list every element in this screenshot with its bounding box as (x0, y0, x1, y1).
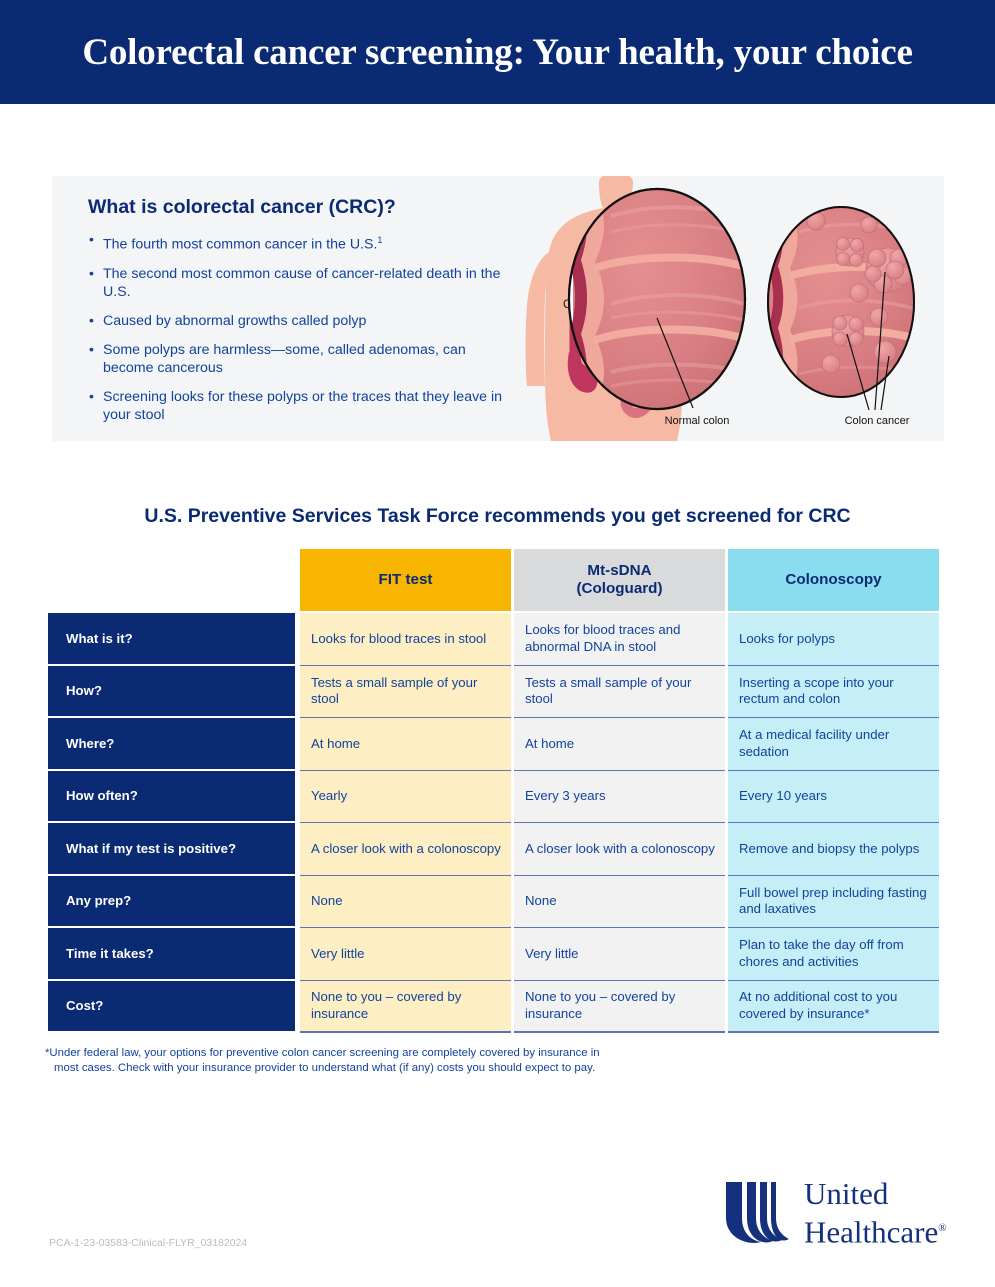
row-label: Time it takes? (48, 928, 295, 981)
cell-mtsdna: Every 3 years (514, 771, 725, 824)
footnote-line-2: most cases. Check with your insurance pr… (45, 1061, 745, 1076)
table-row: Where? At home At home At a medical faci… (48, 718, 948, 771)
row-label: What if my test is positive? (48, 823, 295, 876)
footnote-marker: 1 (377, 235, 382, 245)
bullet-text: The fourth most common cancer in the U.S… (103, 237, 377, 253)
table-header-row: FIT test Mt-sDNA (Cologuard) Colonoscopy (48, 549, 948, 611)
header-corner-spacer (48, 549, 295, 611)
cell-fit: A closer look with a colonoscopy (300, 823, 511, 876)
page-title: Colorectal cancer screening: Your health… (82, 31, 912, 74)
row-label: Any prep? (48, 876, 295, 929)
list-item: The second most common cause of cancer-r… (88, 265, 518, 301)
column-header-mtsdna: Mt-sDNA (Cologuard) (514, 549, 725, 611)
cell-colonoscopy: At a medical facility under sedation (728, 718, 939, 771)
logo-line-2: Healthcare (804, 1214, 938, 1249)
info-box-content: What is colorectal cancer (CRC)? The fou… (88, 196, 518, 435)
cell-fit: Tests a small sample of your stool (300, 666, 511, 719)
colon-cancer-label: Colon cancer (845, 415, 910, 427)
table-row: How? Tests a small sample of your stool … (48, 666, 948, 719)
normal-colon-label: Normal colon (665, 415, 730, 427)
cell-mtsdna: A closer look with a colonoscopy (514, 823, 725, 876)
list-item: Screening looks for these polyps or the … (88, 388, 518, 424)
column-header-colonoscopy: Colonoscopy (728, 549, 939, 611)
table-row: What is it? Looks for blood traces in st… (48, 613, 948, 666)
cell-fit: Yearly (300, 771, 511, 824)
table-row: Cost? None to you – covered by insurance… (48, 981, 948, 1034)
info-box: What is colorectal cancer (CRC)? The fou… (52, 176, 944, 441)
cell-mtsdna: Tests a small sample of your stool (514, 666, 725, 719)
cell-mtsdna: None to you – covered by insurance (514, 981, 725, 1034)
cell-fit: Very little (300, 928, 511, 981)
footnote-line-1: *Under federal law, your options for pre… (45, 1047, 600, 1059)
crc-fact-list: The fourth most common cancer in the U.S… (88, 231, 518, 424)
cell-colonoscopy: Full bowel prep including fasting and la… (728, 876, 939, 929)
cell-mtsdna: At home (514, 718, 725, 771)
info-box-heading: What is colorectal cancer (CRC)? (88, 196, 518, 219)
cell-mtsdna: Very little (514, 928, 725, 981)
column-header-fit: FIT test (300, 549, 511, 611)
cell-colonoscopy: At no additional cost to you covered by … (728, 981, 939, 1034)
insurance-footnote: *Under federal law, your options for pre… (45, 1046, 745, 1076)
cell-fit: None (300, 876, 511, 929)
cell-fit: None to you – covered by insurance (300, 981, 511, 1034)
table-row: Any prep? None None Full bowel prep incl… (48, 876, 948, 929)
cell-mtsdna: Looks for blood traces and abnormal DNA … (514, 613, 725, 666)
table-row: What if my test is positive? A closer lo… (48, 823, 948, 876)
colon-cancer-inset (768, 207, 919, 397)
cell-fit: At home (300, 718, 511, 771)
cell-colonoscopy: Looks for polyps (728, 613, 939, 666)
section-title: U.S. Preventive Services Task Force reco… (0, 505, 995, 528)
normal-colon-inset (569, 189, 751, 409)
table-row: How often? Yearly Every 3 years Every 10… (48, 771, 948, 824)
row-label: Cost? (48, 981, 295, 1034)
row-label: What is it? (48, 613, 295, 666)
list-item: The fourth most common cancer in the U.S… (88, 231, 518, 254)
column-header-mtsdna-line1: Mt-sDNA (587, 562, 651, 579)
list-item: Some polyps are harmless—some, called ad… (88, 341, 518, 377)
row-label: How often? (48, 771, 295, 824)
table-row: Time it takes? Very little Very little P… (48, 928, 948, 981)
registered-mark: ® (938, 1222, 946, 1234)
row-label: Where? (48, 718, 295, 771)
row-label: How? (48, 666, 295, 719)
screening-comparison-table: FIT test Mt-sDNA (Cologuard) Colonoscopy… (48, 549, 948, 1033)
cell-colonoscopy: Inserting a scope into your rectum and c… (728, 666, 939, 719)
unitedhealthcare-logo: United Healthcare® (722, 1178, 948, 1252)
cell-mtsdna: None (514, 876, 725, 929)
logo-line-1: United (804, 1176, 888, 1211)
unitedhealthcare-shield-icon (722, 1178, 800, 1250)
cell-colonoscopy: Plan to take the day off from chores and… (728, 928, 939, 981)
header-banner: Colorectal cancer screening: Your health… (0, 0, 995, 104)
column-header-mtsdna-line2: (Cologuard) (576, 580, 662, 597)
document-code: PCA-1-23-03583-Clinical-FLYR_03182024 (49, 1237, 247, 1249)
unitedhealthcare-wordmark: United Healthcare® (804, 1176, 947, 1249)
list-item: Caused by abnormal growths called polyp (88, 312, 518, 330)
cell-colonoscopy: Every 10 years (728, 771, 939, 824)
cell-colonoscopy: Remove and biopsy the polyps (728, 823, 939, 876)
cell-fit: Looks for blood traces in stool (300, 613, 511, 666)
colon-anatomy-illustration: Colon (507, 176, 944, 441)
flyer-page: Colorectal cancer screening: Your health… (0, 0, 995, 1287)
